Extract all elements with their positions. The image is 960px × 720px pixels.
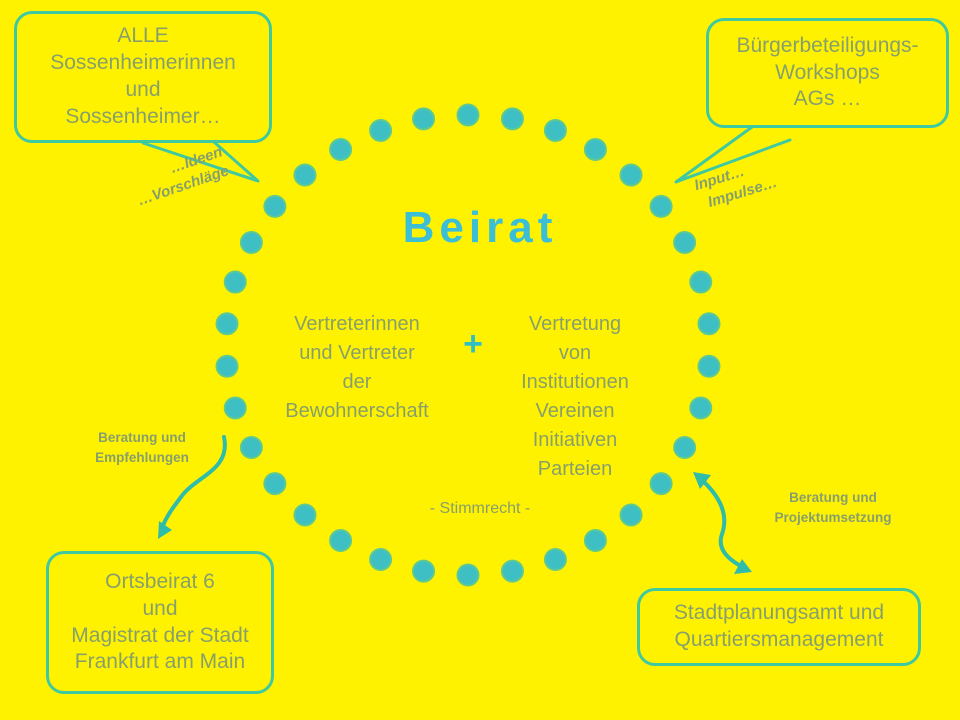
column-line: Vertretung xyxy=(529,313,621,335)
ring-dot xyxy=(413,561,434,582)
column-line: von xyxy=(559,342,591,364)
column-line: Vertreterinnen xyxy=(294,313,420,335)
bubble-line: ALLE xyxy=(117,24,168,47)
annotation-beratung-projektumsetzung: Beratung und Projektumsetzung xyxy=(748,488,918,527)
column-line: und Vertreter xyxy=(299,342,415,364)
column-line: Institutionen xyxy=(521,371,629,393)
bubble-line: AGs … xyxy=(794,87,862,110)
ring-dot xyxy=(502,108,523,129)
arrowhead-beratung-projekt-up xyxy=(693,472,711,489)
box-line: Quartiersmanagement xyxy=(675,628,884,651)
box-line: Magistrat der Stadt xyxy=(71,624,248,647)
ring-dot xyxy=(413,108,434,129)
bubble-line: Workshops xyxy=(775,61,880,84)
box-line: und xyxy=(142,597,177,620)
ring-dot xyxy=(698,313,719,334)
box-stadtplanung-text: Stadtplanungsamt und Quartiersmanagement xyxy=(640,600,918,654)
ring-dot xyxy=(502,561,523,582)
ring-dot xyxy=(225,272,246,293)
speech-bubble-alle-sossenheimer: ALLE Sossenheimerinnen und Sossenheimer… xyxy=(14,11,272,143)
bubble-line: Sossenheimer… xyxy=(65,105,220,128)
ring-dot xyxy=(545,549,566,570)
bubble-line: Sossenheimerinnen xyxy=(50,51,236,74)
column-line: Bewohnerschaft xyxy=(285,400,428,422)
ring-dot xyxy=(674,437,695,458)
column-line: Vereinen xyxy=(536,400,615,422)
ring-dot xyxy=(330,530,351,551)
ring-dot xyxy=(370,549,391,570)
ring-dot xyxy=(621,165,642,186)
ring-dot xyxy=(585,530,606,551)
council-members-residents: Vertreterinnen und Vertreter der Bewohne… xyxy=(272,310,442,426)
column-line: Parteien xyxy=(538,458,613,480)
ring-dot xyxy=(330,139,351,160)
ring-dot xyxy=(458,565,479,586)
ring-dot xyxy=(241,437,262,458)
ring-dot xyxy=(225,397,246,418)
ring-dot xyxy=(698,356,719,377)
bubble-line: Bürgerbeteiligungs- xyxy=(736,34,918,57)
ring-dot xyxy=(545,120,566,141)
ring-dot xyxy=(370,120,391,141)
arrow-beratung-projekt xyxy=(703,481,739,565)
bubble-line: und xyxy=(125,78,160,101)
annotation-beratung-empfehlungen: Beratung und Empfehlungen xyxy=(72,428,212,467)
speech-bubble-buergerbeteiligung: Bürgerbeteiligungs- Workshops AGs … xyxy=(706,18,949,128)
arrowhead-beratung-projekt-down xyxy=(734,559,752,574)
box-ortsbeirat-text: Ortsbeirat 6 und Magistrat der Stadt Fra… xyxy=(49,569,271,677)
ring-dot xyxy=(458,105,479,126)
speech-bubble-alle-text: ALLE Sossenheimerinnen und Sossenheimer… xyxy=(17,23,269,131)
arrowhead-beratung-empfehlungen xyxy=(158,521,172,539)
box-stadtplanungsamt-quartiersmanagement: Stadtplanungsamt und Quartiersmanagement xyxy=(637,588,921,666)
annotation-line: Beratung und xyxy=(748,488,918,508)
ring-dot xyxy=(690,272,711,293)
diagram-canvas: ALLE Sossenheimerinnen und Sossenheimer…… xyxy=(0,0,960,720)
ring-dot xyxy=(217,313,238,334)
page-title: Beirat xyxy=(0,203,960,253)
ring-dot xyxy=(264,473,285,494)
annotation-line: Beratung und xyxy=(72,428,212,448)
box-line: Frankfurt am Main xyxy=(75,650,245,673)
ring-dot xyxy=(217,356,238,377)
box-line: Stadtplanungsamt und xyxy=(674,601,884,624)
annotation-line: Empfehlungen xyxy=(72,448,212,468)
ring-dot xyxy=(585,139,606,160)
speech-bubble-workshops-text: Bürgerbeteiligungs- Workshops AGs … xyxy=(709,33,946,114)
column-line: der xyxy=(343,371,372,393)
council-members-institutions: Vertretung von Institutionen Vereinen In… xyxy=(490,310,660,484)
box-ortsbeirat-magistrat: Ortsbeirat 6 und Magistrat der Stadt Fra… xyxy=(46,551,274,694)
ring-dot xyxy=(294,165,315,186)
ring-dot xyxy=(690,397,711,418)
annotation-line: Projektumsetzung xyxy=(748,508,918,528)
column-line: Initiativen xyxy=(533,429,618,451)
box-line: Ortsbeirat 6 xyxy=(105,570,215,593)
